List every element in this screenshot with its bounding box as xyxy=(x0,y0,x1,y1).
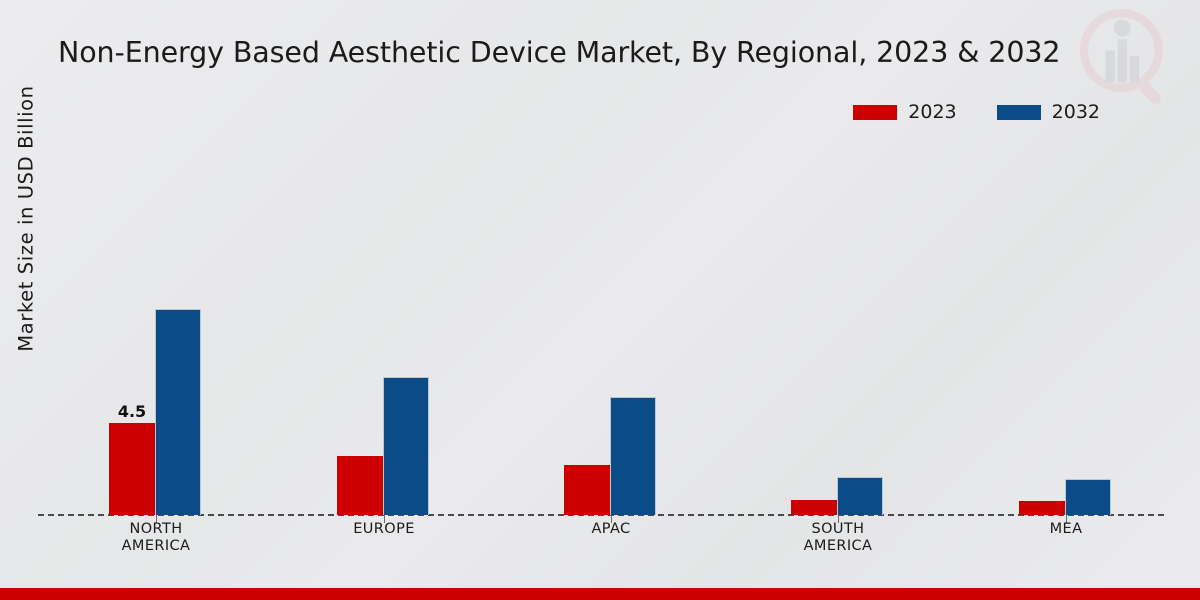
bar-2032-south-america[interactable] xyxy=(837,477,883,515)
x-axis-label-south-america: SOUTHAMERICA xyxy=(758,521,918,555)
chart-container: Non-Energy Based Aesthetic Device Market… xyxy=(0,0,1200,600)
bottom-accent-strip xyxy=(0,588,1200,600)
bar-2023-north-america[interactable]: 4.5 xyxy=(109,423,155,515)
bar-2032-mea[interactable] xyxy=(1065,479,1111,515)
x-axis-label-north-america: NORTHAMERICA xyxy=(76,521,236,555)
bar-2032-apac[interactable] xyxy=(610,397,656,515)
bar-2023-south-america[interactable] xyxy=(791,500,837,515)
bar-value-label: 4.5 xyxy=(118,402,146,421)
bar-2023-apac[interactable] xyxy=(564,465,610,515)
x-axis-label-apac: APAC xyxy=(531,521,691,538)
bar-2023-mea[interactable] xyxy=(1019,501,1065,515)
bar-2023-europe[interactable] xyxy=(337,456,383,515)
bar-2032-europe[interactable] xyxy=(383,377,429,515)
plot-area: 4.5NORTHAMERICAEUROPEAPACSOUTHAMERICAMEA xyxy=(0,0,1200,600)
bar-2032-north-america[interactable] xyxy=(155,309,201,515)
x-axis-label-europe: EUROPE xyxy=(304,521,464,538)
x-axis-label-mea: MEA xyxy=(986,521,1146,538)
